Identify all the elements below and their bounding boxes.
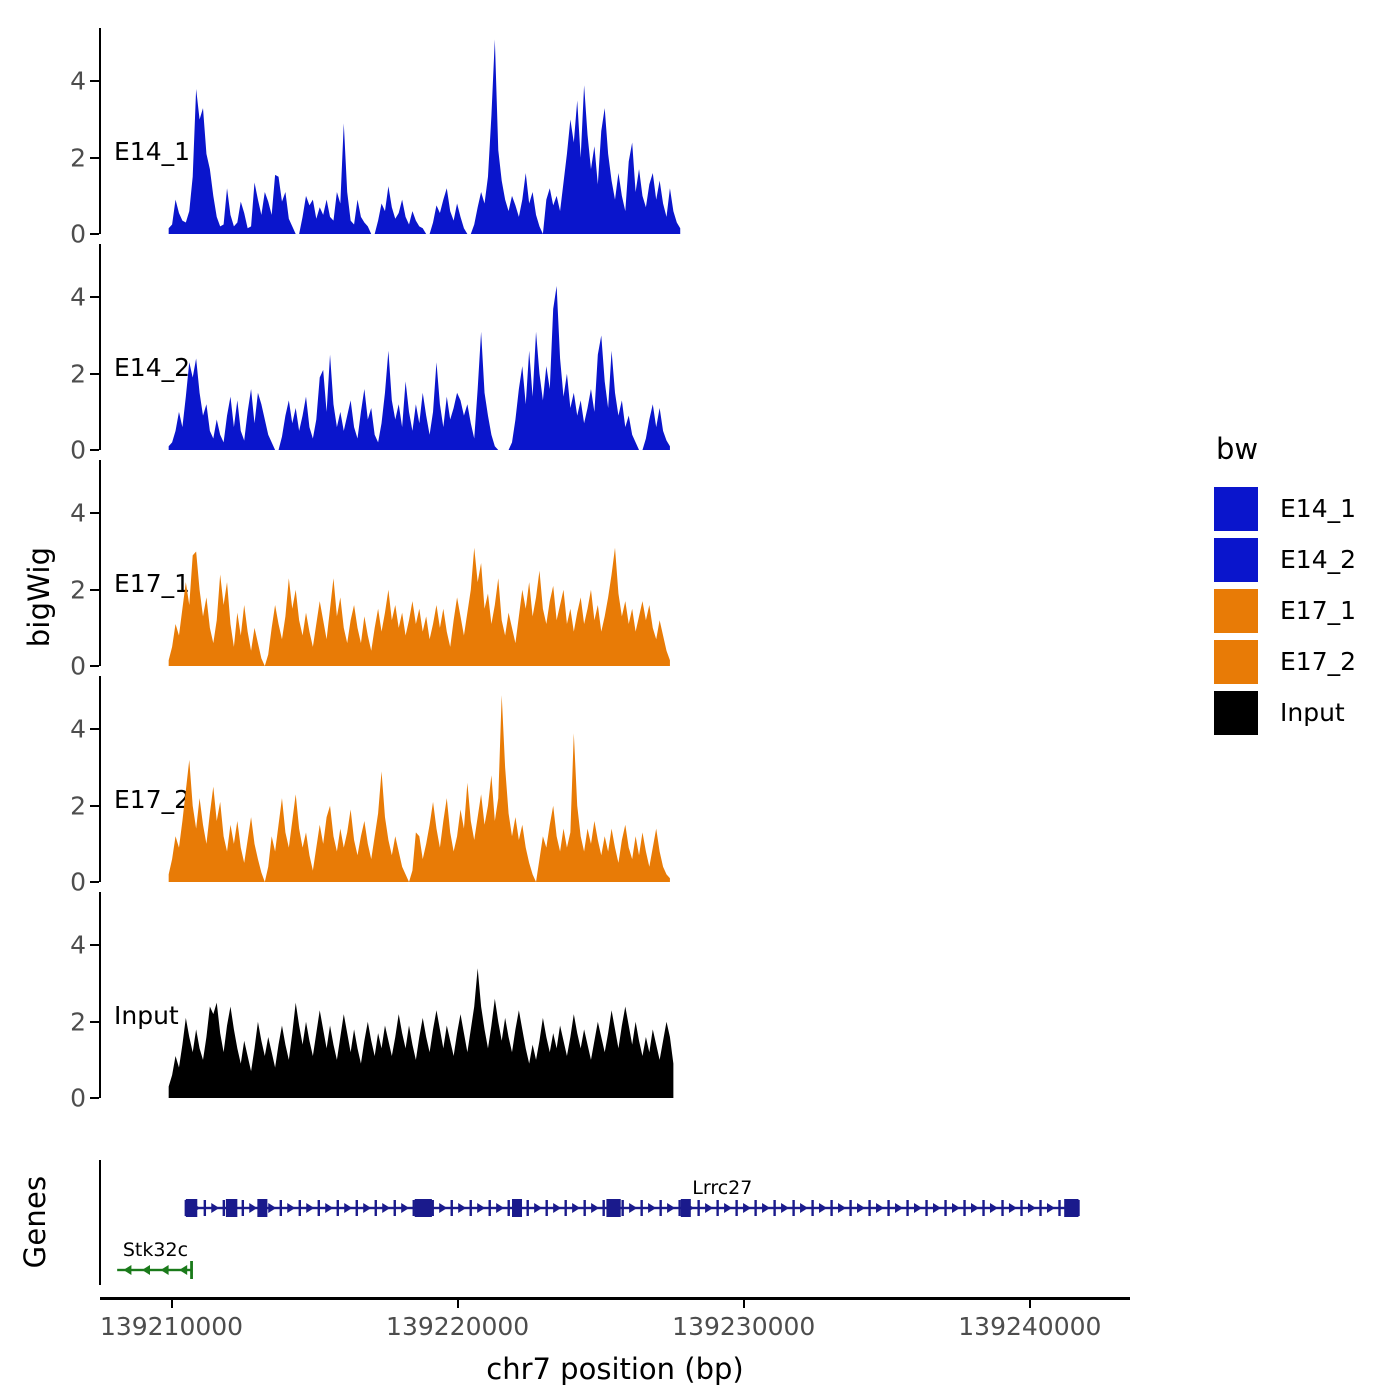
legend-swatch <box>1214 589 1258 633</box>
legend-item-e14_1[interactable]: E14_1 <box>1214 484 1356 533</box>
x-tick-label: 139210000 <box>100 1312 243 1341</box>
strand-arrow-icon <box>572 1203 580 1213</box>
coverage-area-e17_1 <box>100 460 1130 666</box>
strand-arrow-icon <box>123 1265 131 1275</box>
strand-arrow-icon <box>534 1203 542 1213</box>
x-tick <box>457 1300 459 1308</box>
y-axis-title-bigwig: bigWig <box>22 522 56 672</box>
strand-arrow-icon <box>724 1203 732 1213</box>
strand-arrow-icon <box>838 1203 846 1213</box>
strand-arrow-icon <box>1028 1203 1036 1213</box>
y-tick <box>90 157 99 159</box>
track-panel-e17_2: 024E17_2 <box>100 676 1130 882</box>
gene-tick <box>659 1200 661 1216</box>
gene-label-stk32c: Stk32c <box>123 1239 188 1261</box>
gene-tick <box>204 1200 206 1216</box>
y-tick-label: 4 <box>70 931 86 960</box>
y-axis-title-genes: Genes <box>18 1152 52 1292</box>
strand-arrow-icon <box>179 1265 187 1275</box>
strand-arrow-icon <box>819 1203 827 1213</box>
gene-tick <box>583 1200 585 1216</box>
genes-panel: Lrrc27Stk32c <box>100 1160 1130 1285</box>
legend-label: E14_2 <box>1280 545 1356 574</box>
strand-arrow-icon <box>933 1203 941 1213</box>
gene-exon <box>186 1199 197 1217</box>
y-tick-label: 2 <box>70 143 86 172</box>
coverage-area-e14_1 <box>100 28 1130 234</box>
strand-arrow-icon <box>1009 1203 1017 1213</box>
gene-tick <box>394 1200 396 1216</box>
y-tick <box>90 512 99 514</box>
y-tick-label: 2 <box>70 359 86 388</box>
gene-exon <box>606 1199 620 1217</box>
y-tick <box>90 944 99 946</box>
gene-tick <box>280 1200 282 1216</box>
y-tick <box>90 589 99 591</box>
y-tick-label: 2 <box>70 1007 86 1036</box>
strand-arrow-icon <box>971 1203 979 1213</box>
strand-arrow-icon <box>553 1203 561 1213</box>
track-panel-e14_1: 024E14_1 <box>100 28 1130 234</box>
gene-tick <box>640 1200 642 1216</box>
x-tick-label: 139220000 <box>386 1312 529 1341</box>
strand-arrow-icon <box>914 1203 922 1213</box>
y-tick <box>90 728 99 730</box>
coverage-area-e14_2 <box>100 244 1130 450</box>
x-axis-title: chr7 position (bp) <box>100 1352 1130 1386</box>
legend-item-input[interactable]: Input <box>1214 688 1356 737</box>
gene-tick <box>906 1200 908 1216</box>
gene-tick <box>508 1200 510 1216</box>
gene-tick <box>963 1200 965 1216</box>
gene-tick <box>413 1200 415 1216</box>
gene-tick <box>1058 1200 1060 1216</box>
strand-arrow-icon <box>249 1203 257 1213</box>
strand-arrow-icon <box>762 1203 770 1213</box>
gene-tick <box>470 1200 472 1216</box>
y-tick-label: 4 <box>70 283 86 312</box>
y-tick-label: 4 <box>70 715 86 744</box>
gene-tick <box>868 1200 870 1216</box>
y-tick-label: 0 <box>70 436 86 465</box>
gene-tick <box>678 1200 680 1216</box>
gene-tick <box>773 1200 775 1216</box>
gene-tick <box>944 1200 946 1216</box>
gene-tick <box>451 1200 453 1216</box>
strand-arrow-icon <box>161 1265 169 1275</box>
strand-arrow-icon <box>325 1203 333 1213</box>
legend-item-e17_1[interactable]: E17_1 <box>1214 586 1356 635</box>
gene-exon <box>1064 1199 1078 1217</box>
gene-tick <box>299 1200 301 1216</box>
legend: bw E14_1E14_2E17_1E17_2Input <box>1214 432 1356 739</box>
strand-arrow-icon <box>211 1203 219 1213</box>
track-panel-input: 024Input <box>100 892 1130 1098</box>
strand-arrow-icon <box>401 1203 409 1213</box>
y-tick <box>90 665 99 667</box>
coverage-area-e17_2 <box>100 676 1130 882</box>
strand-arrow-icon <box>800 1203 808 1213</box>
gene-tick <box>602 1200 604 1216</box>
strand-arrow-icon <box>857 1203 865 1213</box>
gene-tick <box>697 1200 699 1216</box>
y-tick <box>90 296 99 298</box>
legend-swatch <box>1214 640 1258 684</box>
x-axis-line <box>100 1297 1130 1300</box>
y-tick <box>90 373 99 375</box>
strand-arrow-icon <box>743 1203 751 1213</box>
strand-arrow-icon <box>142 1265 150 1275</box>
gene-tick <box>318 1200 320 1216</box>
strand-arrow-icon <box>705 1203 713 1213</box>
legend-label: E17_1 <box>1280 596 1356 625</box>
gene-tick <box>337 1200 339 1216</box>
y-tick-label: 4 <box>70 67 86 96</box>
gene-models <box>100 1160 1130 1285</box>
gene-exon <box>226 1199 237 1217</box>
legend-swatch <box>1214 487 1258 531</box>
y-tick <box>90 449 99 451</box>
y-tick <box>90 881 99 883</box>
strand-arrow-icon <box>591 1203 599 1213</box>
legend-items: E14_1E14_2E17_1E17_2Input <box>1214 484 1356 737</box>
legend-label: E17_2 <box>1280 647 1356 676</box>
legend-swatch <box>1214 538 1258 582</box>
gene-tick <box>716 1200 718 1216</box>
gene-tick <box>1001 1200 1003 1216</box>
gene-tick <box>887 1200 889 1216</box>
gene-exon <box>415 1199 432 1217</box>
strand-arrow-icon <box>895 1203 903 1213</box>
y-tick-label: 0 <box>70 1084 86 1113</box>
gene-exon <box>681 1199 691 1217</box>
strand-arrow-icon <box>268 1203 276 1213</box>
legend-swatch <box>1214 691 1258 735</box>
strand-arrow-icon <box>952 1203 960 1213</box>
gene-label-lrrc27: Lrrc27 <box>692 1177 752 1199</box>
y-tick-label: 2 <box>70 791 86 820</box>
x-tick <box>171 1300 173 1308</box>
strand-arrow-icon <box>1047 1203 1055 1213</box>
gene-tick <box>223 1200 225 1216</box>
legend-item-e17_2[interactable]: E17_2 <box>1214 637 1356 686</box>
y-tick-label: 2 <box>70 575 86 604</box>
gene-tick <box>375 1200 377 1216</box>
x-tick-label: 139230000 <box>672 1312 815 1341</box>
strand-arrow-icon <box>629 1203 637 1213</box>
y-tick <box>90 805 99 807</box>
coverage-area-input <box>100 892 1130 1098</box>
gene-exon <box>512 1199 522 1217</box>
y-tick-label: 0 <box>70 868 86 897</box>
y-tick-label: 4 <box>70 499 86 528</box>
gene-tick <box>527 1200 529 1216</box>
strand-arrow-icon <box>439 1203 447 1213</box>
strand-arrow-icon <box>344 1203 352 1213</box>
gene-tick <box>1039 1200 1041 1216</box>
gene-tick <box>545 1200 547 1216</box>
strand-arrow-icon <box>458 1203 466 1213</box>
legend-label: E14_1 <box>1280 494 1356 523</box>
strand-arrow-icon <box>781 1203 789 1213</box>
x-tick-label: 139240000 <box>958 1312 1101 1341</box>
gene-tick <box>792 1200 794 1216</box>
track-panel-e17_1: 024E17_1 <box>100 460 1130 666</box>
strand-arrow-icon <box>876 1203 884 1213</box>
strand-arrow-icon <box>287 1203 295 1213</box>
gene-tick <box>564 1200 566 1216</box>
gene-tick <box>735 1200 737 1216</box>
legend-item-e14_2[interactable]: E14_2 <box>1214 535 1356 584</box>
gene-tick <box>982 1200 984 1216</box>
gene-tick <box>849 1200 851 1216</box>
gene-tick <box>754 1200 756 1216</box>
x-tick <box>743 1300 745 1308</box>
gene-tick <box>242 1200 244 1216</box>
y-tick <box>90 80 99 82</box>
legend-title: bw <box>1216 432 1356 466</box>
strand-arrow-icon <box>306 1203 314 1213</box>
gene-tick <box>621 1200 623 1216</box>
strand-arrow-icon <box>496 1203 504 1213</box>
track-panel-e14_2: 024E14_2 <box>100 244 1130 450</box>
gene-tick <box>356 1200 358 1216</box>
strand-arrow-icon <box>382 1203 390 1213</box>
gene-tick <box>830 1200 832 1216</box>
strand-arrow-icon <box>363 1203 371 1213</box>
strand-arrow-icon <box>648 1203 656 1213</box>
gene-tick <box>925 1200 927 1216</box>
y-tick-label: 0 <box>70 652 86 681</box>
gene-tick <box>1020 1200 1022 1216</box>
genome-browser-figure: bigWig Genes 024E14_1024E14_2024E17_1024… <box>0 0 1400 1400</box>
gene-tick <box>432 1200 434 1216</box>
y-tick-label: 0 <box>70 220 86 249</box>
strand-arrow-icon <box>667 1203 675 1213</box>
gene-exon <box>257 1199 267 1217</box>
strand-arrow-icon <box>477 1203 485 1213</box>
y-tick <box>90 1097 99 1099</box>
gene-tss-tick <box>190 1261 193 1279</box>
legend-label: Input <box>1280 698 1345 727</box>
y-tick <box>90 1021 99 1023</box>
x-tick <box>1029 1300 1031 1308</box>
gene-tick <box>811 1200 813 1216</box>
gene-tick <box>489 1200 491 1216</box>
y-tick <box>90 233 99 235</box>
strand-arrow-icon <box>990 1203 998 1213</box>
